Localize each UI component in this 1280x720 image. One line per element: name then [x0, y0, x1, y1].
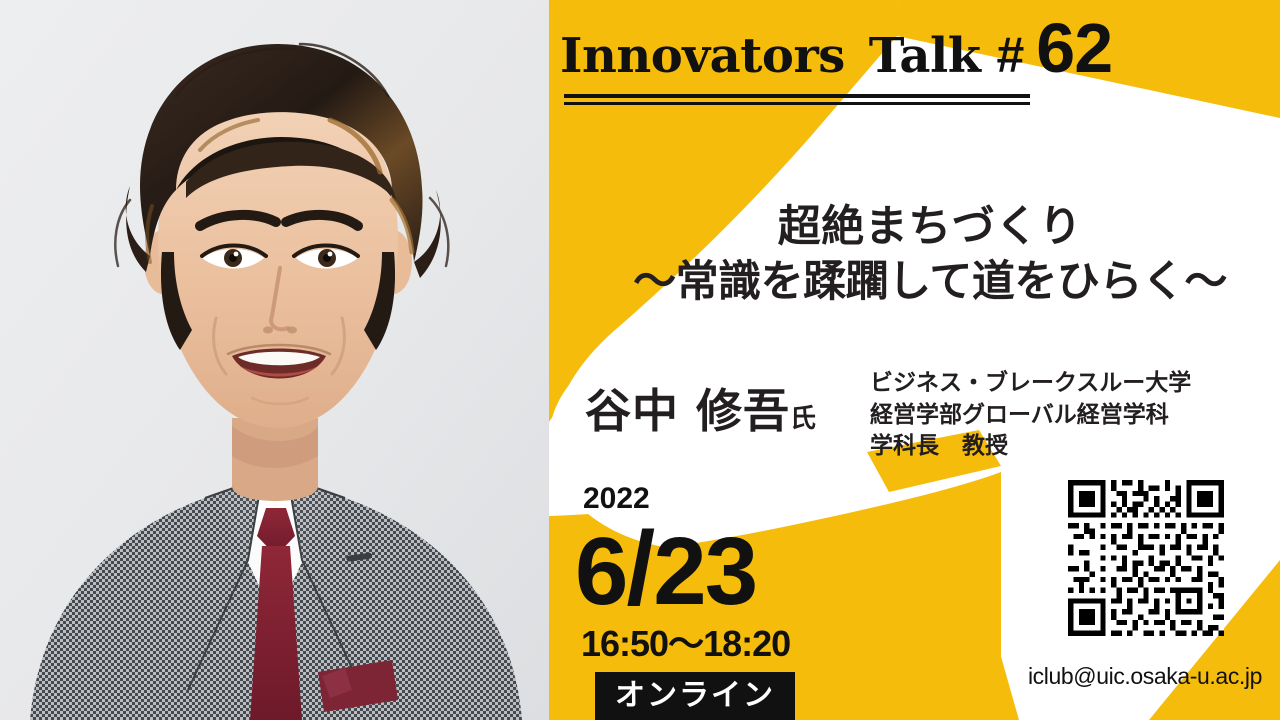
contact-email[interactable]: iclub@uic.osaka-u.ac.jp [1010, 665, 1280, 688]
speaker-name-suffix: 氏 [790, 404, 816, 434]
series-header: Innovators Talk # 62 [560, 16, 1260, 102]
speaker-block: 谷中 修吾氏 ビジネス・ブレークスルー大学 経営学部グローバル経営学科 学科長 … [575, 380, 1265, 480]
hash-symbol: # [996, 30, 1024, 80]
series-title-word1: Innovators [560, 32, 845, 80]
session-title-line2: ～常識を蹂躙して道をひらく～ [600, 255, 1260, 310]
affiliation-line-1: ビジネス・ブレークスルー大学 [870, 368, 1270, 400]
event-poster: Innovators Talk # 62 超絶まちづくり ～常識を蹂躙して道をひ… [0, 0, 1280, 720]
event-date-block: 2022 6/23 16:50～18:20 オンライン [575, 484, 905, 720]
event-format-badge: オンライン [595, 672, 795, 720]
event-year: 2022 [583, 484, 905, 514]
event-month: 6 [575, 518, 626, 625]
event-date: 6/23 [575, 516, 905, 622]
affiliation-line-3: 学科長 教授 [870, 431, 1270, 463]
title-double-underline [564, 94, 1030, 105]
speaker-name-row: 谷中 修吾氏 [585, 388, 816, 434]
affiliation-line-2: 経営学部グローバル経営学科 [870, 400, 1270, 432]
session-title-line1: 超絶まちづくり [600, 200, 1260, 255]
session-title: 超絶まちづくり ～常識を蹂躙して道をひらく～ [600, 200, 1260, 310]
qr-code[interactable] [1068, 480, 1224, 636]
event-time: 16:50～18:20 [581, 626, 905, 662]
speaker-affiliation: ビジネス・ブレークスルー大学 経営学部グローバル経営学科 学科長 教授 [870, 368, 1270, 463]
speaker-name: 谷中 修吾 [585, 384, 790, 438]
lightning-bolt-icon [845, 28, 871, 80]
event-day: 23 [653, 518, 756, 625]
date-separator: / [626, 511, 653, 627]
episode-number: 62 [1036, 16, 1112, 80]
speaker-portrait-photo [0, 0, 550, 720]
series-title-word2: Talk [869, 32, 981, 80]
